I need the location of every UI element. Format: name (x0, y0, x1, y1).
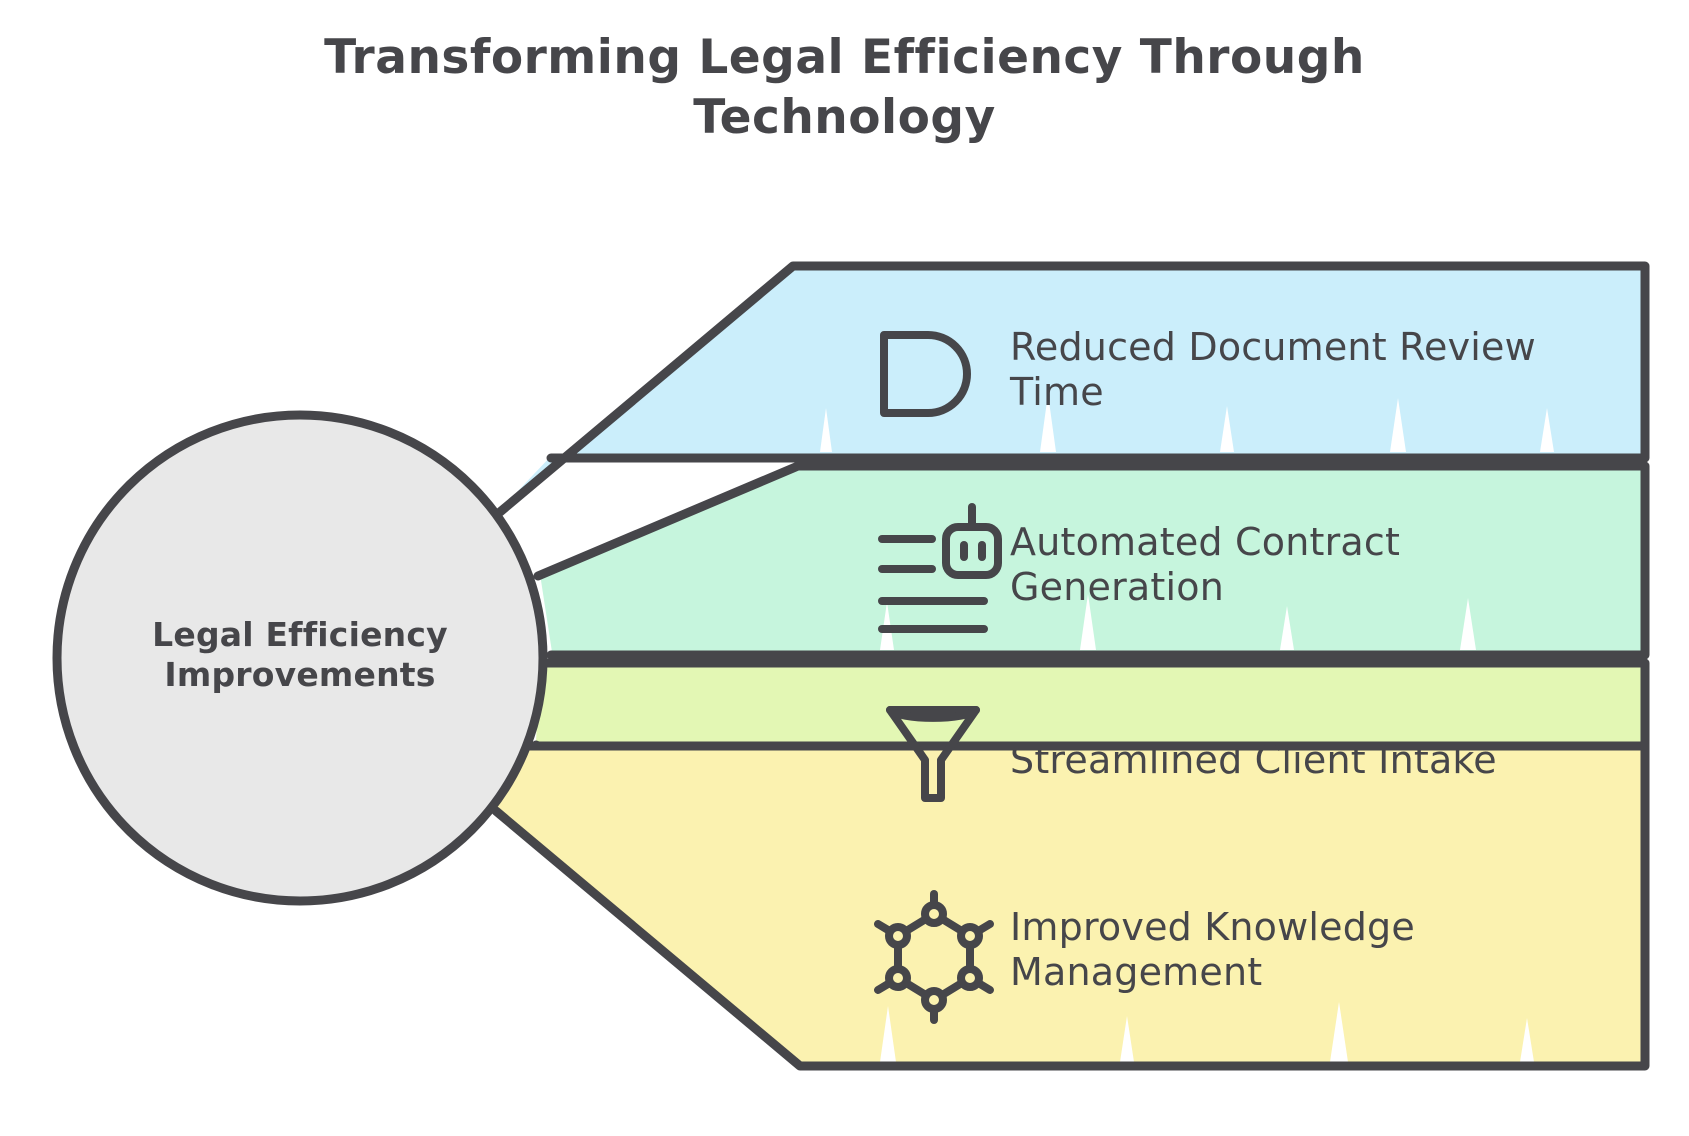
hub-label: Legal Efficiency Improvements (110, 615, 490, 696)
band-4-shape (496, 743, 1645, 1063)
band-2-label: Automated Contract Generation (1010, 520, 1570, 610)
band-3-label: Streamlined Client Intake (1010, 738, 1610, 783)
band-4-label: Improved Knowledge Management (1010, 905, 1570, 995)
diagram-canvas: Transforming Legal Efficiency Through Te… (0, 0, 1689, 1136)
band-1-label: Reduced Document Review Time (1010, 325, 1570, 415)
